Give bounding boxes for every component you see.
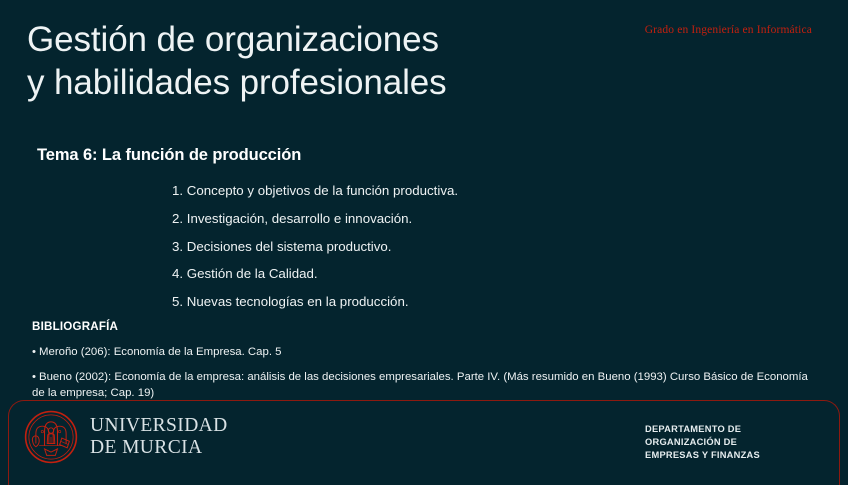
footer-band: UNIVERSIDAD DE MURCIA DEPARTAMENTO DE OR… [8,400,840,485]
page-title: Gestión de organizaciones y habilidades … [27,18,667,105]
department-line-2: ORGANIZACIÓN DE [645,436,760,449]
university-wordmark: UNIVERSIDAD DE MURCIA [90,415,228,460]
list-item: 1. Concepto y objetivos de la función pr… [172,184,772,197]
university-name-line-2: DE MURCIA [90,437,228,459]
bibliography-section: BIBLIOGRAFÍA •Meroño (206): Economía de … [32,320,822,411]
department-line-3: EMPRESAS Y FINANZAS [645,449,760,462]
university-name-line-1: UNIVERSIDAD [90,415,228,436]
list-item: 2. Investigación, desarrollo e innovació… [172,212,772,225]
topic-heading: Tema 6: La función de producción [37,146,301,165]
bibliography-entry-text: Bueno (2002): Economía de la empresa: an… [32,371,808,399]
bibliography-heading: BIBLIOGRAFÍA [32,320,822,333]
slide-root: Grado en Ingeniería en Informática Gesti… [0,0,848,477]
course-tag: Grado en Ingeniería en Informática [645,24,812,36]
bullet-icon: • [32,346,36,358]
university-crest-icon [24,410,78,464]
topic-contents-list: 1. Concepto y objetivos de la función pr… [172,184,772,323]
bibliography-entry-text: Meroño (206): Economía de la Empresa. Ca… [39,346,282,358]
bibliography-entry: •Bueno (2002): Economía de la empresa: a… [32,369,822,401]
list-item: 5. Nuevas tecnologías en la producción. [172,295,772,308]
department-text: DEPARTAMENTO DE ORGANIZACIÓN DE EMPRESAS… [645,423,760,463]
university-logo: UNIVERSIDAD DE MURCIA [24,410,228,464]
bullet-icon: • [32,371,36,383]
page-title-line-2: y habilidades profesionales [27,61,667,104]
department-line-1: DEPARTAMENTO DE [645,423,760,436]
page-title-line-1: Gestión de organizaciones [27,18,667,61]
list-item: 3. Decisiones del sistema productivo. [172,240,772,253]
list-item: 4. Gestión de la Calidad. [172,267,772,280]
bibliography-entry: •Meroño (206): Economía de la Empresa. C… [32,344,822,360]
